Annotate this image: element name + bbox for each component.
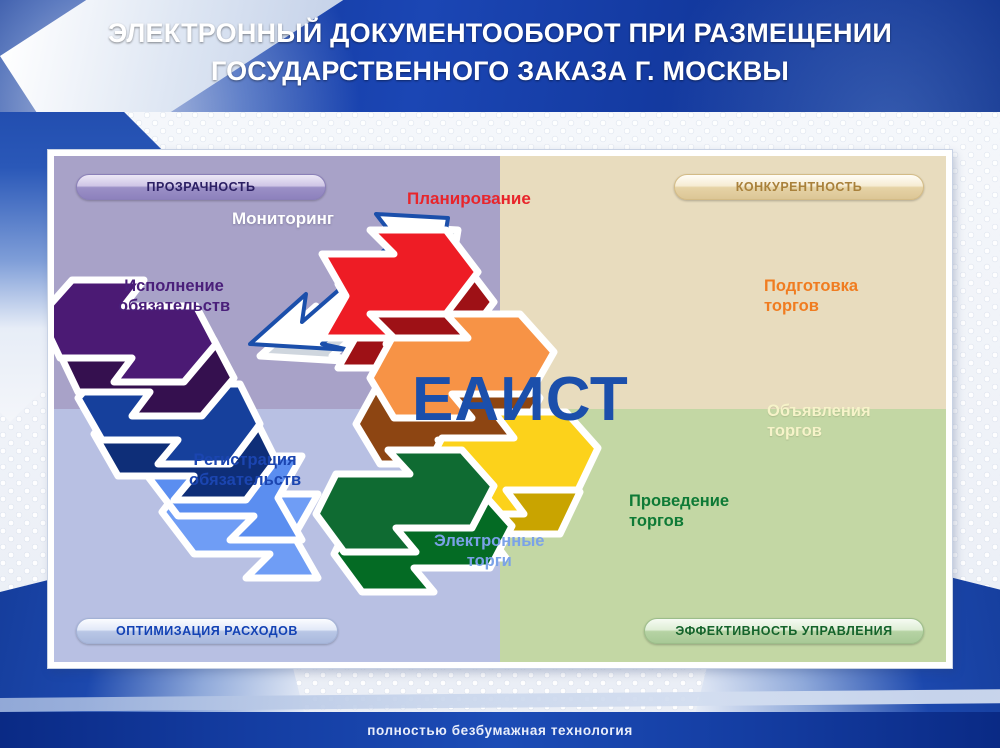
slide-canvas: ЭЛЕКТРОННЫЙ ДОКУМЕНТООБОРОТ ПРИ РАЗМЕЩЕН… xyxy=(0,0,1000,748)
label-provedenie: Проведение торгов xyxy=(629,491,729,531)
label-ispolnenie: Исполнение обязательств xyxy=(118,276,230,316)
footer-text: полностью безбумажная технология xyxy=(0,712,1000,748)
label-elektronnye: Электронные торги xyxy=(434,531,544,571)
diagram-panel: ЕАИСТ Мониторинг Планирование Подготовка… xyxy=(48,150,952,668)
label-podgotovka: Подготовка торгов xyxy=(764,276,858,316)
page-title-line-2: ГОСУДАРСТВЕННОГО ЗАКАЗА Г. МОСКВЫ xyxy=(0,52,1000,90)
badge-prozrachnost: ПРОЗРАЧНОСТЬ xyxy=(76,174,326,200)
label-obyavleniya: Объявления торгов xyxy=(767,401,871,441)
badge-konkurentnost: КОНКУРЕНТНОСТЬ xyxy=(674,174,924,200)
quadrant-grid: ЕАИСТ Мониторинг Планирование Подготовка… xyxy=(54,156,946,662)
badge-effektivnost-upravleniya: ЭФФЕКТИВНОСТЬ УПРАВЛЕНИЯ xyxy=(644,618,924,644)
slide-footer: полностью безбумажная технология xyxy=(0,712,1000,748)
label-registraciya: Регистрация обязательств xyxy=(189,450,301,490)
label-planirovanie: Планирование xyxy=(407,189,531,210)
eaist-logo: ЕАИСТ xyxy=(412,364,629,435)
badge-optimizaciya-rashodov: ОПТИМИЗАЦИЯ РАСХОДОВ xyxy=(76,618,338,644)
page-title: ЭЛЕКТРОННЫЙ ДОКУМЕНТООБОРОТ ПРИ РАЗМЕЩЕН… xyxy=(0,14,1000,90)
label-monitoring: Мониторинг xyxy=(232,209,334,230)
page-title-line-1: ЭЛЕКТРОННЫЙ ДОКУМЕНТООБОРОТ ПРИ РАЗМЕЩЕН… xyxy=(108,18,892,48)
